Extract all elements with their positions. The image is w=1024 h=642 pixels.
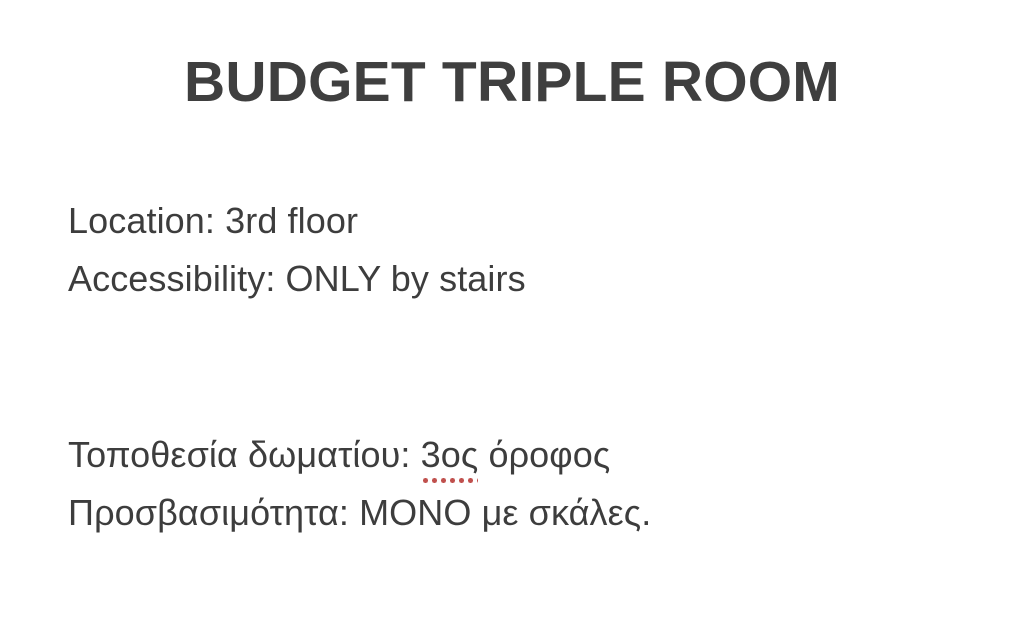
text-line-accessibility: Accessibility: ONLY by stairs <box>68 250 526 308</box>
document-page: BUDGET TRIPLE ROOM Location: 3rd floor A… <box>0 0 1024 642</box>
page-title: BUDGET TRIPLE ROOM <box>0 54 1024 111</box>
text-block-greek: Τοποθεσία δωματίου: 3ος όροφος Προσβασιμ… <box>68 426 651 542</box>
text-line-location-greek-prefix: Τοποθεσία δωματίου: <box>68 434 421 475</box>
text-line-location: Location: 3rd floor <box>68 192 526 250</box>
text-block-english: Location: 3rd floor Accessibility: ONLY … <box>68 192 526 308</box>
spellcheck-misspelled-word[interactable]: 3ος <box>421 426 479 484</box>
text-line-location-greek: Τοποθεσία δωματίου: 3ος όροφος <box>68 426 651 484</box>
text-line-accessibility-greek: Προσβασιμότητα: ΜΟΝΟ με σκάλες. <box>68 484 651 542</box>
text-line-location-greek-suffix: όροφος <box>478 434 610 475</box>
